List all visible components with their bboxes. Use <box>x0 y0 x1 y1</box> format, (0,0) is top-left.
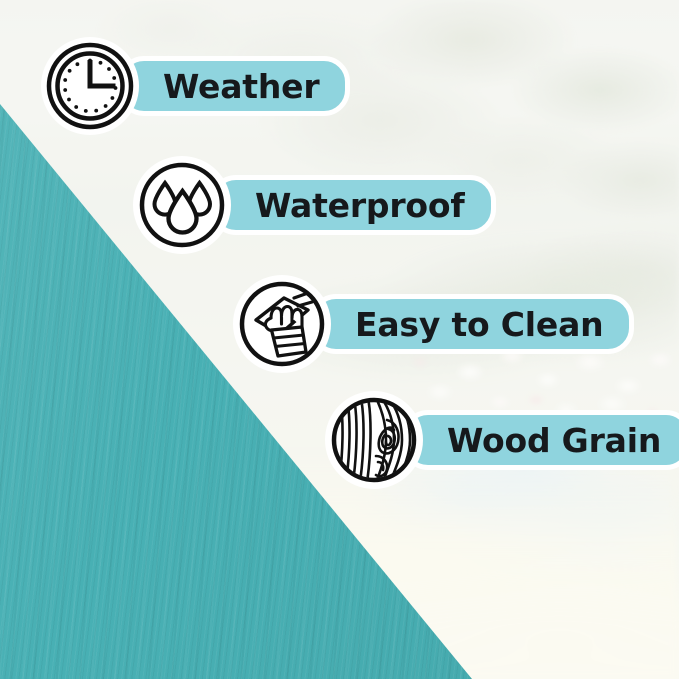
feature-pill-wood-grain[interactable]: Wood Grain <box>402 410 679 470</box>
feature-badge-waterproof[interactable]: Waterproof <box>138 161 496 249</box>
feature-graphic-image: Weather Waterproof <box>0 0 679 679</box>
feature-badge-wood-grain[interactable]: Wood Grain <box>330 396 679 484</box>
feature-label-easy-to-clean: Easy to Clean <box>355 308 603 341</box>
wood-grain-icon <box>330 396 418 484</box>
clock-icon <box>46 42 134 130</box>
feature-label-weather: Weather <box>163 70 319 103</box>
feature-pill-easy-to-clean[interactable]: Easy to Clean <box>310 294 634 354</box>
feature-badge-easy-to-clean[interactable]: Easy to Clean <box>238 280 634 368</box>
hand-wiping-cloth-icon <box>238 280 326 368</box>
feature-badge-weather[interactable]: Weather <box>46 42 350 130</box>
feature-label-wood-grain: Wood Grain <box>447 424 661 457</box>
feature-label-waterproof: Waterproof <box>255 189 465 222</box>
feature-pill-waterproof[interactable]: Waterproof <box>210 175 496 235</box>
water-drops-icon <box>138 161 226 249</box>
feature-pill-weather[interactable]: Weather <box>118 56 350 116</box>
